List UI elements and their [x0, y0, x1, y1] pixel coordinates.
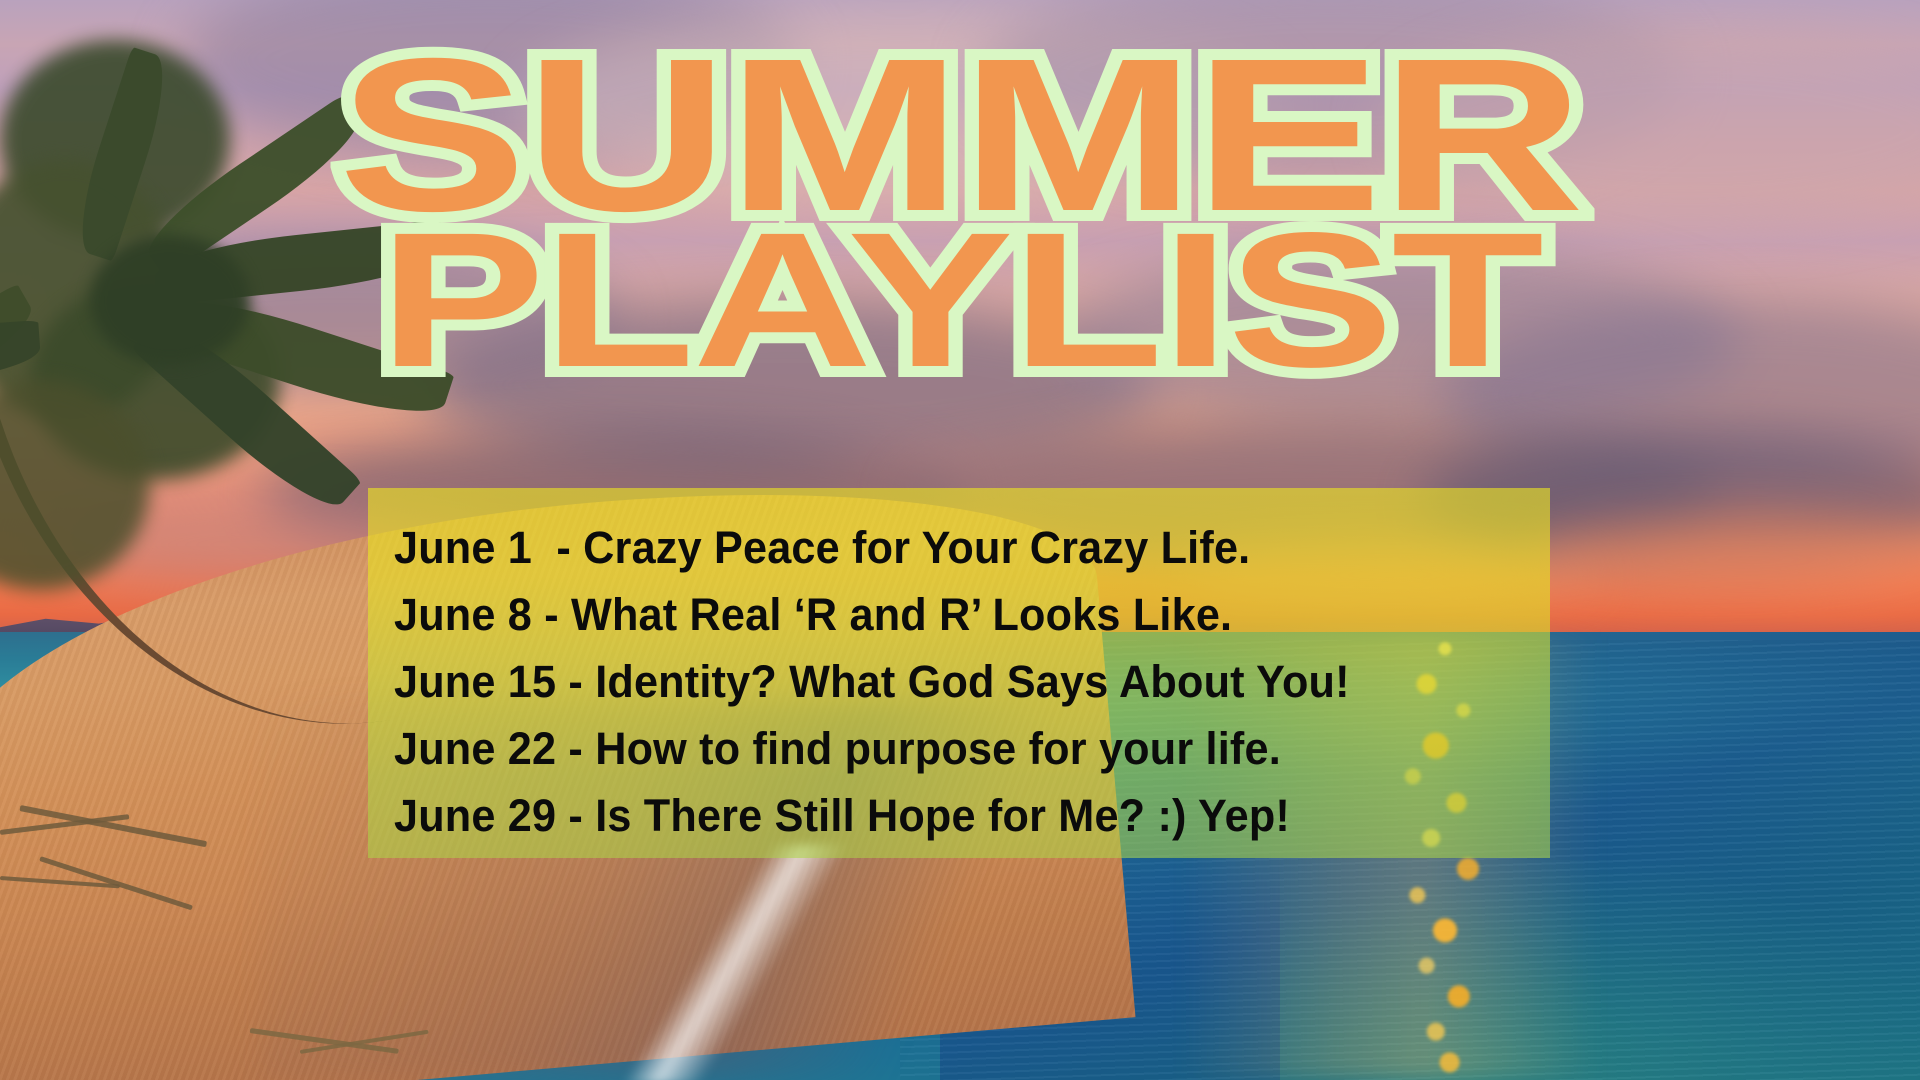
schedule-item: June 8 - What Real ‘R and R’ Looks Like.	[394, 581, 1504, 648]
schedule-item: June 22 - How to find purpose for your l…	[394, 715, 1504, 782]
schedule-item: June 1 - Crazy Peace for Your Crazy Life…	[394, 514, 1504, 581]
schedule-item: June 15 - Identity? What God Says About …	[394, 648, 1504, 715]
summer-playlist-poster: SUMMER PLAYLIST June 1 - Crazy Peace for…	[0, 0, 1920, 1080]
shoreline-foam	[520, 845, 940, 1080]
schedule-item: June 29 - Is There Still Hope for Me? :)…	[394, 782, 1504, 849]
schedule-panel: June 1 - Crazy Peace for Your Crazy Life…	[368, 488, 1550, 858]
palm-foliage	[90, 235, 250, 365]
